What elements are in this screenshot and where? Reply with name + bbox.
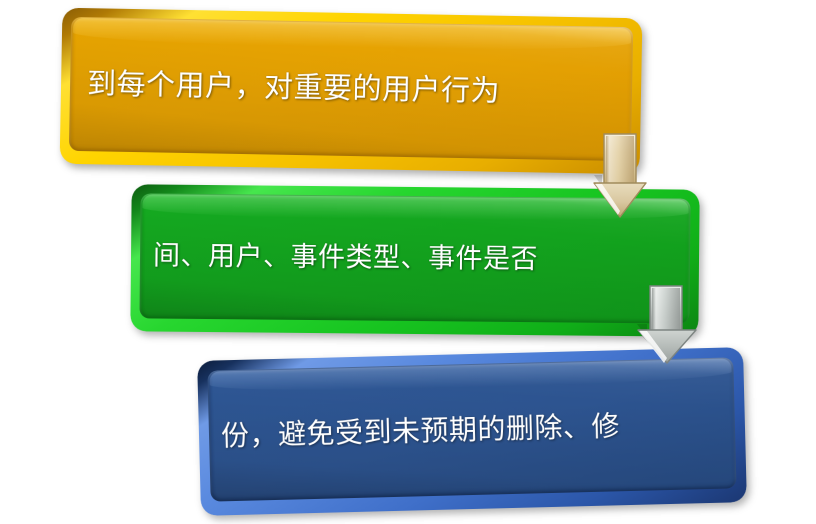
connector-1-down-arrow-icon bbox=[592, 131, 658, 221]
gold-box-line-2: 到每个用户，对重要的用户行为 bbox=[87, 65, 642, 113]
connector-2-down-arrow-icon bbox=[633, 284, 703, 366]
blue-box-text: 应对审计记录进行保护，定期备 份，避免受到未预期的删除、修 改或覆盖等 bbox=[216, 347, 747, 516]
blue-box-line-2: 份，避免受到未预期的删除、修 bbox=[221, 405, 746, 455]
slide-canvas: 应启用安全审计功能，审计覆盖 到每个用户，对重要的用户行为 和重要安全事件进行审… bbox=[0, 0, 816, 524]
blue-box-content: 应对审计记录进行保护，定期备 份，避免受到未预期的删除、修 改或覆盖等 bbox=[197, 347, 747, 516]
gold-box-text: 应启用安全审计功能，审计覆盖 到每个用户，对重要的用户行为 和重要安全事件进行审… bbox=[83, 8, 642, 175]
green-box-line-2: 间、用户、事件类型、事件是否 bbox=[153, 239, 699, 279]
flow-step-3-blue[interactable]: 应对审计记录进行保护，定期备 份，避免受到未预期的删除、修 改或覆盖等 bbox=[197, 347, 747, 516]
flow-step-1-gold[interactable]: 应启用安全审计功能，审计覆盖 到每个用户，对重要的用户行为 和重要安全事件进行审… bbox=[60, 8, 643, 175]
blue-box-line-3: 改或覆盖等 bbox=[223, 515, 747, 516]
gold-box-content: 应启用安全审计功能，审计覆盖 到每个用户，对重要的用户行为 和重要安全事件进行审… bbox=[60, 8, 643, 175]
